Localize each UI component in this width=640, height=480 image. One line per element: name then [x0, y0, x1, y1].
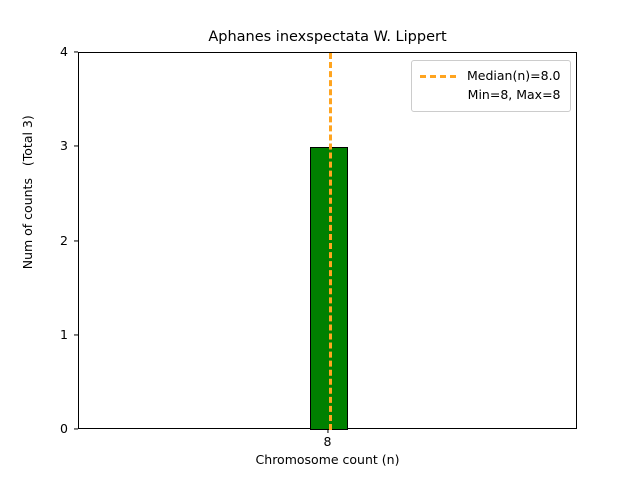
- median-line: [329, 53, 332, 430]
- legend-box: Median(n)=8.0Min=8, Max=8: [411, 60, 571, 112]
- legend-label: Min=8, Max=8: [468, 89, 561, 102]
- legend-item: Min=8, Max=8: [420, 86, 561, 105]
- y-axis-label: Num of counts (Total 3): [22, 42, 35, 342]
- y-tick-label: 2: [0, 234, 68, 247]
- y-tick-label: 0: [0, 423, 68, 436]
- legend-line-swatch: [420, 75, 456, 78]
- chart-figure: Aphanes inexspectata W. Lippert Num of c…: [0, 0, 640, 480]
- x-axis-label: Chromosome count (n): [78, 454, 577, 467]
- legend-item: Median(n)=8.0: [420, 67, 561, 86]
- y-tick-label: 3: [0, 140, 68, 153]
- y-tick-label: 4: [0, 46, 68, 59]
- x-tick-label: 8: [324, 436, 332, 449]
- chart-title: Aphanes inexspectata W. Lippert: [78, 30, 577, 45]
- legend-rows: Median(n)=8.0Min=8, Max=8: [420, 67, 561, 105]
- legend-label: Median(n)=8.0: [467, 70, 561, 83]
- y-tick-label: 1: [0, 329, 68, 342]
